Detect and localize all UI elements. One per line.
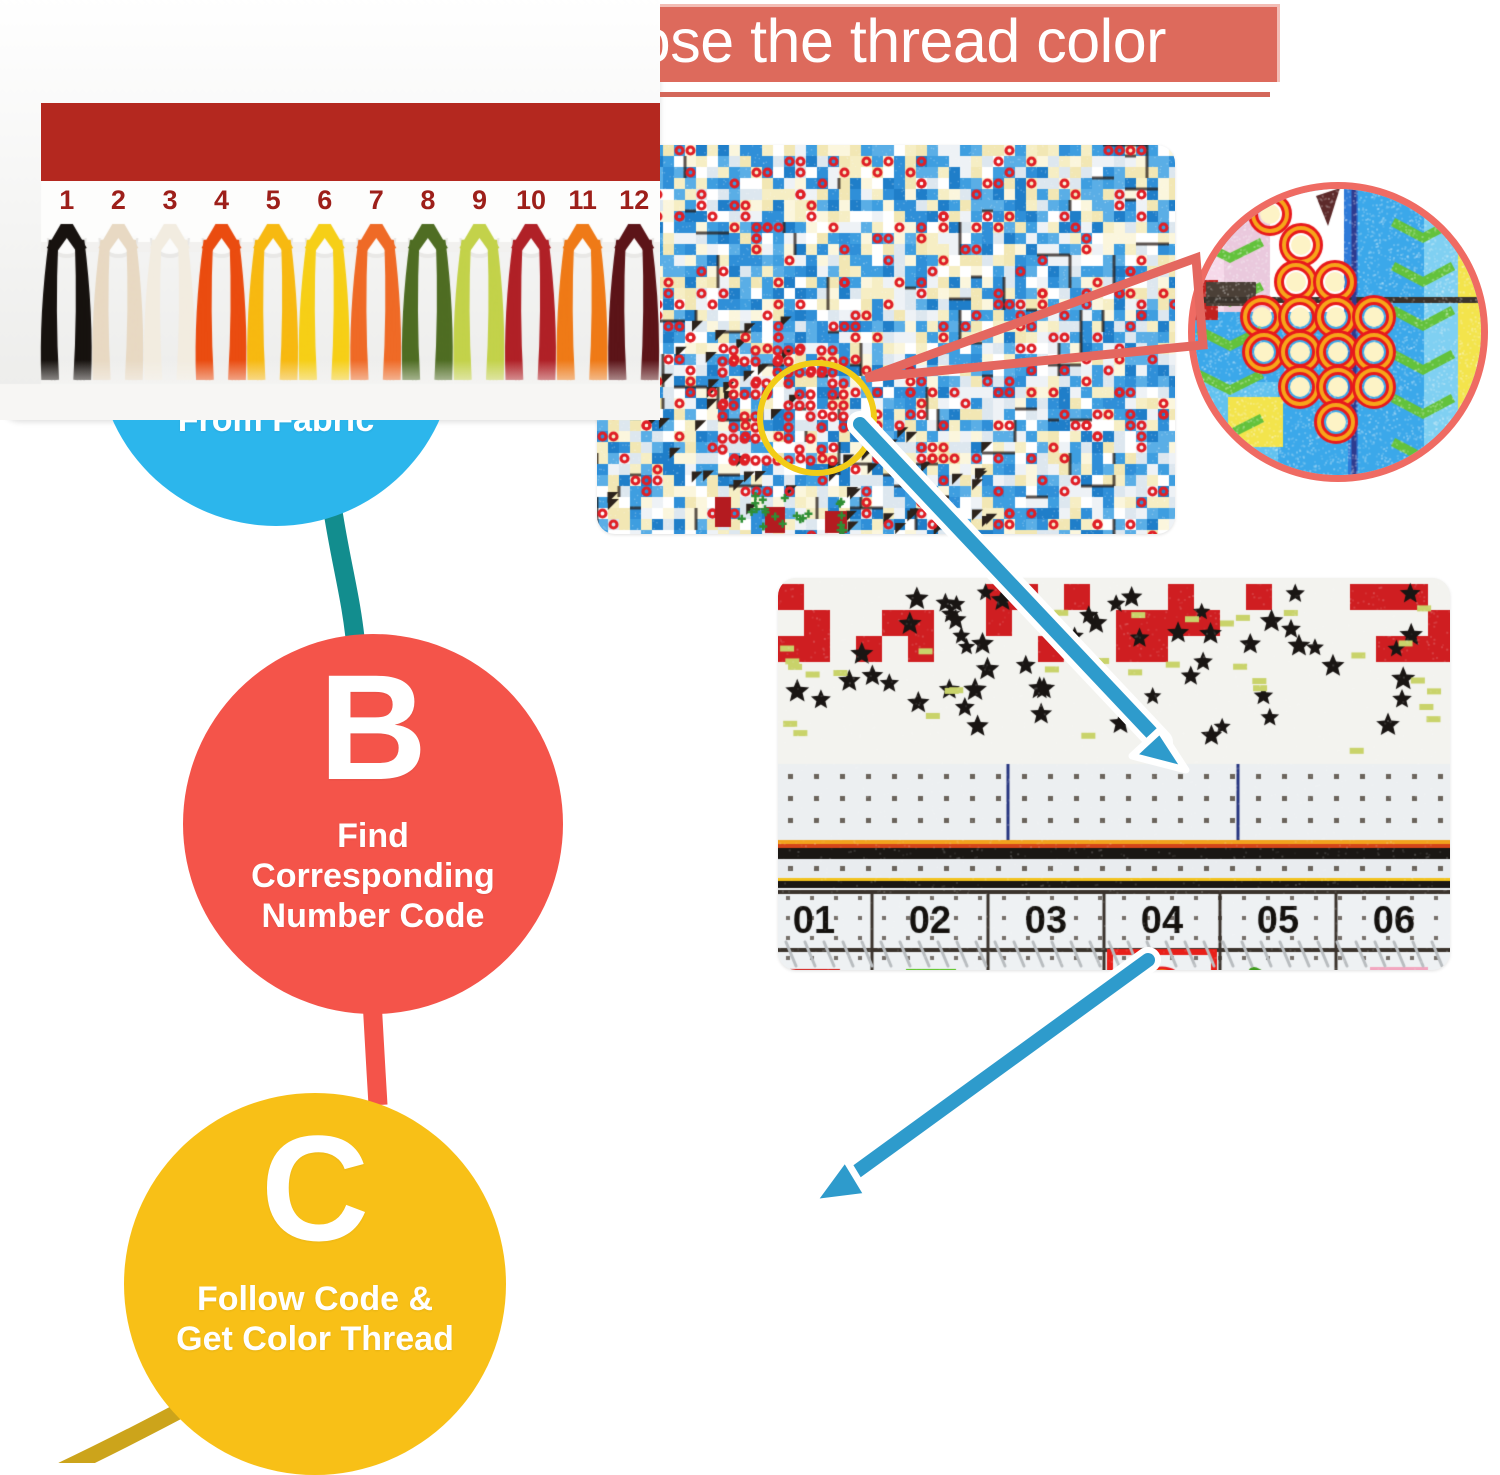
step-b-caption-line3: Number Code xyxy=(251,896,495,936)
thread-number: 11 xyxy=(560,185,606,216)
step-b-caption-line2: Corresponding xyxy=(251,856,495,896)
step-circle-c[interactable]: C Follow Code & Get Color Thread xyxy=(124,1093,506,1475)
thread-number: 12 xyxy=(611,185,657,216)
thread-number: 8 xyxy=(405,185,451,216)
step-c-caption-line2: Get Color Thread xyxy=(176,1319,454,1359)
thread-number: 7 xyxy=(353,185,399,216)
step-b-caption: Find Corresponding Number Code xyxy=(251,816,495,936)
thread-number-row: 123456789101112 xyxy=(41,185,660,225)
magnified-fabric-image xyxy=(1188,182,1488,482)
thread-number: 9 xyxy=(456,185,502,216)
thread-number: 4 xyxy=(199,185,245,216)
color-code-chart-card xyxy=(778,578,1450,970)
arrow-chart-to-thread xyxy=(812,960,1148,1203)
step-c-letter: C xyxy=(261,1113,369,1263)
infographic-stage: How to chose the thread color A Read Sym… xyxy=(0,0,1500,1463)
step-b-letter: B xyxy=(319,652,427,802)
thread-number: 10 xyxy=(508,185,554,216)
fabric-highlight-ring xyxy=(757,360,877,476)
step-c-caption: Follow Code & Get Color Thread xyxy=(176,1279,454,1359)
fabric-pattern-image xyxy=(597,145,1175,534)
thread-organizer-card: Cross Stitch 123456789101112 xyxy=(0,0,660,420)
connector-a-to-b xyxy=(332,505,356,648)
thread-card-banner xyxy=(41,103,660,181)
step-c-caption-line1: Follow Code & xyxy=(176,1279,454,1319)
connector-b-to-c xyxy=(372,1000,378,1105)
step-circle-b[interactable]: B Find Corresponding Number Code xyxy=(183,634,563,1014)
thread-number: 1 xyxy=(44,185,90,216)
thread-card-banner-label: Cross Stitch xyxy=(1204,103,1382,181)
fabric-photo-card xyxy=(597,145,1175,534)
number-code-chart-image xyxy=(778,578,1450,970)
thread-number: 3 xyxy=(147,185,193,216)
magnifier-circle xyxy=(1188,182,1488,482)
step-b-caption-line1: Find xyxy=(251,816,495,856)
thread-number: 6 xyxy=(302,185,348,216)
thread-number: 2 xyxy=(95,185,141,216)
thread-number: 5 xyxy=(250,185,296,216)
